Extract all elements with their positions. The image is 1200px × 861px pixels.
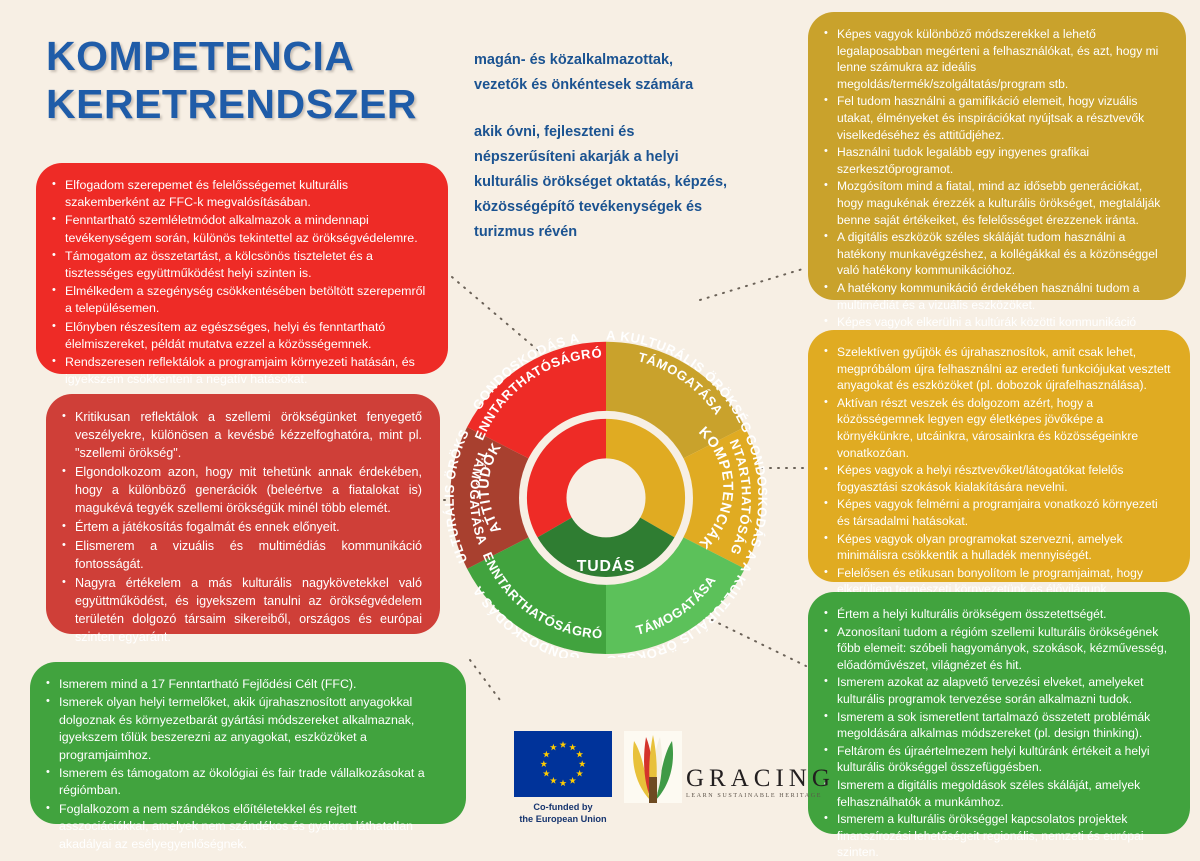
list-item: Képes vagyok a helyi résztvevőket/látoga…	[822, 462, 1172, 495]
wheel-hub	[566, 458, 645, 537]
list-item: Értem a helyi kulturális örökségem össze…	[822, 606, 1172, 623]
list-item: A hatékony kommunikáció érdekében haszná…	[822, 280, 1168, 313]
connector-competences-heritage	[700, 268, 806, 300]
panel-attitudes-sustainability: Elfogadom szerepemet és felelősségemet k…	[36, 163, 448, 374]
panel-attitudes-sustainability-list: Elfogadom szerepemet és felelősségemet k…	[50, 177, 430, 388]
list-item: Használni tudok legalább egy ingyenes gr…	[822, 144, 1168, 177]
connector-knowledge-sustainability	[470, 660, 500, 700]
list-item: Támogatom az összetartást, a kölcsönös t…	[50, 248, 430, 282]
list-item: Azonosítani tudom a régióm szellemi kult…	[822, 624, 1172, 674]
panel-competences-heritage: Képes vagyok különböző módszerekkel a le…	[808, 12, 1186, 300]
list-item: Ismerem a sok ismeretlent tartalmazó öss…	[822, 709, 1172, 742]
list-item: Nagyra értékelem a más kulturális nagykö…	[60, 574, 422, 646]
gracing-tagline: LEARN SUSTAINABLE HERITAGE	[686, 793, 835, 799]
competence-wheel: GONDOSKODÁS A FENNTARTHATÓSÁGRÓL A KULTU…	[408, 318, 804, 658]
eu-flag-icon	[514, 731, 612, 797]
gracing-name: GRACING	[686, 766, 835, 792]
list-item: Elgondolkozom azon, hogy mit tehetünk an…	[60, 463, 422, 517]
page-title-line-2: KERETRENDSZER	[46, 80, 466, 128]
list-item: Fel tudom használni a gamifikáció elemei…	[822, 93, 1168, 143]
panel-knowledge-heritage-list: Értem a helyi kulturális örökségem össze…	[822, 606, 1172, 861]
wheel-inner-label-knowledge: TUDÁS	[577, 556, 635, 575]
gracing-wordmark: GRACING LEARN SUSTAINABLE HERITAGE	[686, 766, 835, 803]
panel-attitudes-heritage: Kritikusan reflektálok a szellemi öröksé…	[46, 394, 440, 634]
list-item: Aktívan részt veszek és dolgozom azért, …	[822, 395, 1172, 461]
eu-caption-line-2: the European Union	[514, 814, 612, 826]
eu-logo: Co-funded by the European Union	[514, 731, 610, 825]
list-item: Képes vagyok felmérni a programjaira von…	[822, 496, 1172, 529]
list-item: Szelektíven gyűjtök és újrahasznosítok, …	[822, 344, 1172, 394]
list-item: Kritikusan reflektálok a szellemi öröksé…	[60, 408, 422, 462]
panel-competences-sustainability: Szelektíven gyűjtök és újrahasznosítok, …	[808, 330, 1190, 582]
subtitle: magán- és közalkalmazottak, vezetők és ö…	[474, 48, 774, 245]
infographic-canvas: KOMPETENCIA KERETRENDSZER magán- és köza…	[0, 0, 1200, 848]
list-item: Ismerem és támogatom az ökológiai és fai…	[44, 765, 448, 800]
list-item: Feltárom és újraértelmezem helyi kultúrá…	[822, 743, 1172, 776]
list-item: Ismerem mind a 17 Fenntartható Fejlődési…	[44, 676, 448, 693]
list-item: Képes vagyok olyan programokat szervezni…	[822, 531, 1172, 564]
list-item: A digitális eszközök széles skáláját tud…	[822, 229, 1168, 279]
list-item: Előnyben részesítem az egészséges, helyi…	[50, 319, 430, 353]
list-item: Elismerem a vizuális és multimédiás komm…	[60, 537, 422, 573]
subtitle-audience-line-1: magán- és közalkalmazottak,	[474, 48, 774, 73]
panel-knowledge-heritage: Értem a helyi kulturális örökségem össze…	[808, 592, 1190, 834]
list-item: Ismerem a digitális megoldások széles sk…	[822, 777, 1172, 810]
list-item: Rendszeresen reflektálok a programjaim k…	[50, 354, 430, 388]
eu-caption-line-1: Co-funded by	[514, 802, 612, 814]
gracing-tree-icon	[624, 731, 682, 803]
list-item: Fenntartható szemléletmódot alkalmazok a…	[50, 212, 430, 246]
panel-competences-heritage-list: Képes vagyok különböző módszerekkel a le…	[822, 26, 1168, 347]
list-item: Ismerek olyan helyi termelőket, akik újr…	[44, 694, 448, 764]
subtitle-purpose-line-5: turizmus révén	[474, 220, 774, 245]
list-item: Képes vagyok különböző módszerekkel a le…	[822, 26, 1168, 92]
list-item: Ismerem azokat az alapvető tervezési elv…	[822, 674, 1172, 707]
list-item: Elfogadom szerepemet és felelősségemet k…	[50, 177, 430, 211]
page-title: KOMPETENCIA KERETRENDSZER	[46, 32, 466, 128]
panel-attitudes-heritage-list: Kritikusan reflektálok a szellemi öröksé…	[60, 408, 422, 646]
subtitle-purpose-line-2: népszerűsíteni akarják a helyi	[474, 145, 774, 170]
list-item: Ismerem a kulturális örökséggel kapcsola…	[822, 811, 1172, 861]
subtitle-purpose-line-3: kulturális örökséget oktatás, képzés,	[474, 170, 774, 195]
list-item: Értem a játékosítás fogalmát és ennek el…	[60, 518, 422, 536]
eu-logo-caption: Co-funded by the European Union	[514, 802, 612, 825]
list-item: Foglalkozom a nem szándékos előítéletekk…	[44, 801, 448, 853]
logo-row: Co-funded by the European Union GRACING …	[514, 731, 746, 813]
panel-knowledge-sustainability: Ismerem mind a 17 Fenntartható Fejlődési…	[30, 662, 466, 824]
list-item: Mozgósítom mind a fiatal, mind az időseb…	[822, 178, 1168, 228]
subtitle-purpose-line-1: akik óvni, fejleszteni és	[474, 120, 774, 145]
gracing-logo: GRACING LEARN SUSTAINABLE HERITAGE	[624, 731, 835, 803]
subtitle-purpose-line-4: közösségépítő tevékenységek és	[474, 195, 774, 220]
page-title-line-1: KOMPETENCIA	[46, 32, 466, 80]
list-item: Elmélkedem a szegénység csökkentésében b…	[50, 283, 430, 317]
subtitle-audience-line-2: vezetők és önkéntesek számára	[474, 73, 774, 98]
panel-knowledge-sustainability-list: Ismerem mind a 17 Fenntartható Fejlődési…	[44, 676, 448, 853]
panel-competences-sustainability-list: Szelektíven gyűjtök és újrahasznosítok, …	[822, 344, 1172, 615]
